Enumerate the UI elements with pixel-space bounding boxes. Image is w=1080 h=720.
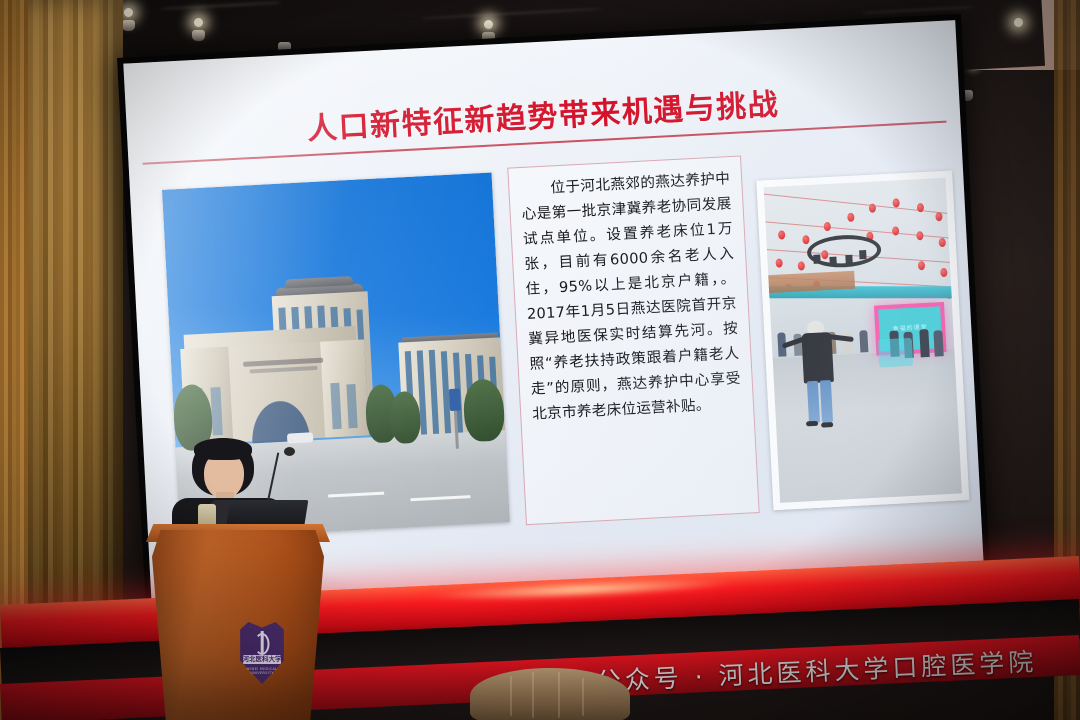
microphone-head <box>284 447 295 456</box>
photo-activity-hall: 幸福的课堂 <box>756 170 969 510</box>
emblem-institution-en: HEBEI MEDICAL UNIVERSITY <box>236 667 288 675</box>
university-emblem: 河北医科大学 HEBEI MEDICAL UNIVERSITY <box>236 622 288 684</box>
blue-road-sign <box>449 389 461 412</box>
audience-head <box>470 668 630 720</box>
elderly-dancer <box>791 319 859 472</box>
emblem-institution-cn: 河北医科大学 <box>236 655 288 664</box>
screenshot-root: 人口新特征新趋势带来机遇与挑战 <box>0 0 1080 720</box>
slide-title: 人口新特征新趋势带来机遇与挑战 <box>126 70 960 158</box>
slide-body-text: 位于河北燕郊的燕达养护中心是第一批京津冀养老协同发展试点单位。设置养老床位1万张… <box>520 166 747 513</box>
